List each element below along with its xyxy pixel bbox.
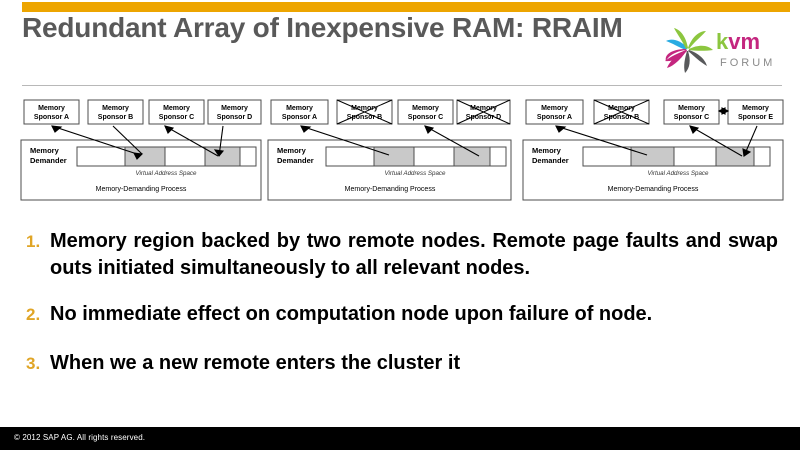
process-caption: Memory-Demanding Process [608,186,699,193]
process-caption: Memory-Demanding Process [345,186,436,193]
title-divider [22,85,782,86]
sponsor-label: Sponsor A [282,114,317,121]
kvm-forum-logo: kvm FORUM [658,22,796,78]
list-item-number: 2. [26,301,50,327]
logo-word-kvm: kvm [716,29,760,54]
list-item-number: 1. [26,228,50,254]
sponsor-label: Sponsor B [604,114,639,121]
pinwheel-icon [665,28,713,73]
sponsor-label: Memory [678,105,705,112]
sponsor-label: Memory [286,105,313,112]
sponsor-label: Sponsor B [347,114,382,121]
process-caption: Memory-Demanding Process [96,186,187,193]
list-item: 2. No immediate effect on computation no… [26,301,778,328]
sponsor-label: Memory [38,105,65,112]
copyright-notice: © 2012 SAP AG. All rights reserved. [14,433,145,442]
sponsor-label: Sponsor C [674,114,709,121]
sponsor-label: Memory [608,105,635,112]
sponsor-label: Memory [102,105,129,112]
sponsor-label: Memory [163,105,190,112]
list-item-text: No immediate effect on computation node … [50,301,778,328]
slide: Redundant Array of Inexpensive RAM: RRAI… [0,0,800,450]
page-title: Redundant Array of Inexpensive RAM: RRAI… [22,12,682,43]
diagram-2: Memory Sponsor A Memory Sponsor B Memory… [265,96,515,204]
bullet-list: 1. Memory region backed by two remote no… [26,228,778,390]
list-item: 3. When we a new remote enters the clust… [26,350,778,377]
sponsor-label: Memory [412,105,439,112]
demander-label: Memory [277,146,307,155]
sponsor-label: Memory [541,105,568,112]
demander-label: Demander [277,156,314,165]
demander-label: Memory [532,146,562,155]
sponsor-label: Memory [742,105,769,112]
list-item: 1. Memory region backed by two remote no… [26,228,778,281]
footer-bar: © 2012 SAP AG. All rights reserved. [0,427,800,450]
sponsor-label: Sponsor A [34,114,69,121]
address-space-label: Virtual Address Space [385,170,446,177]
sponsor-label: Memory [470,105,497,112]
top-accent-bar [22,2,790,12]
sponsor-label: Sponsor C [408,114,443,121]
sponsor-label: Sponsor C [159,114,194,121]
sponsor-label: Sponsor B [98,114,133,121]
peer-link-arrow [719,108,728,114]
list-item-text: When we a new remote enters the cluster … [50,350,778,377]
diagram-row: Memory Sponsor A Memory Sponsor B Memory… [0,96,800,204]
address-space-label: Virtual Address Space [648,170,709,177]
diagram-3: Memory Sponsor A Memory Sponsor B Memory… [520,96,788,204]
demander-label: Demander [532,156,569,165]
sponsor-label: Sponsor E [738,114,773,121]
sponsor-label: Sponsor D [217,114,252,121]
sponsor-label: Memory [351,105,378,112]
sponsor-label: Memory [221,105,248,112]
demander-label: Demander [30,156,67,165]
diagram-1: Memory Sponsor A Memory Sponsor B Memory… [18,96,266,204]
list-item-text: Memory region backed by two remote nodes… [50,228,778,281]
list-item-number: 3. [26,350,50,376]
logo-word-forum: FORUM [720,57,775,69]
sponsor-label: Sponsor D [466,114,501,121]
sponsor-label: Sponsor A [537,114,572,121]
demander-label: Memory [30,146,60,155]
address-space-label: Virtual Address Space [136,170,197,177]
